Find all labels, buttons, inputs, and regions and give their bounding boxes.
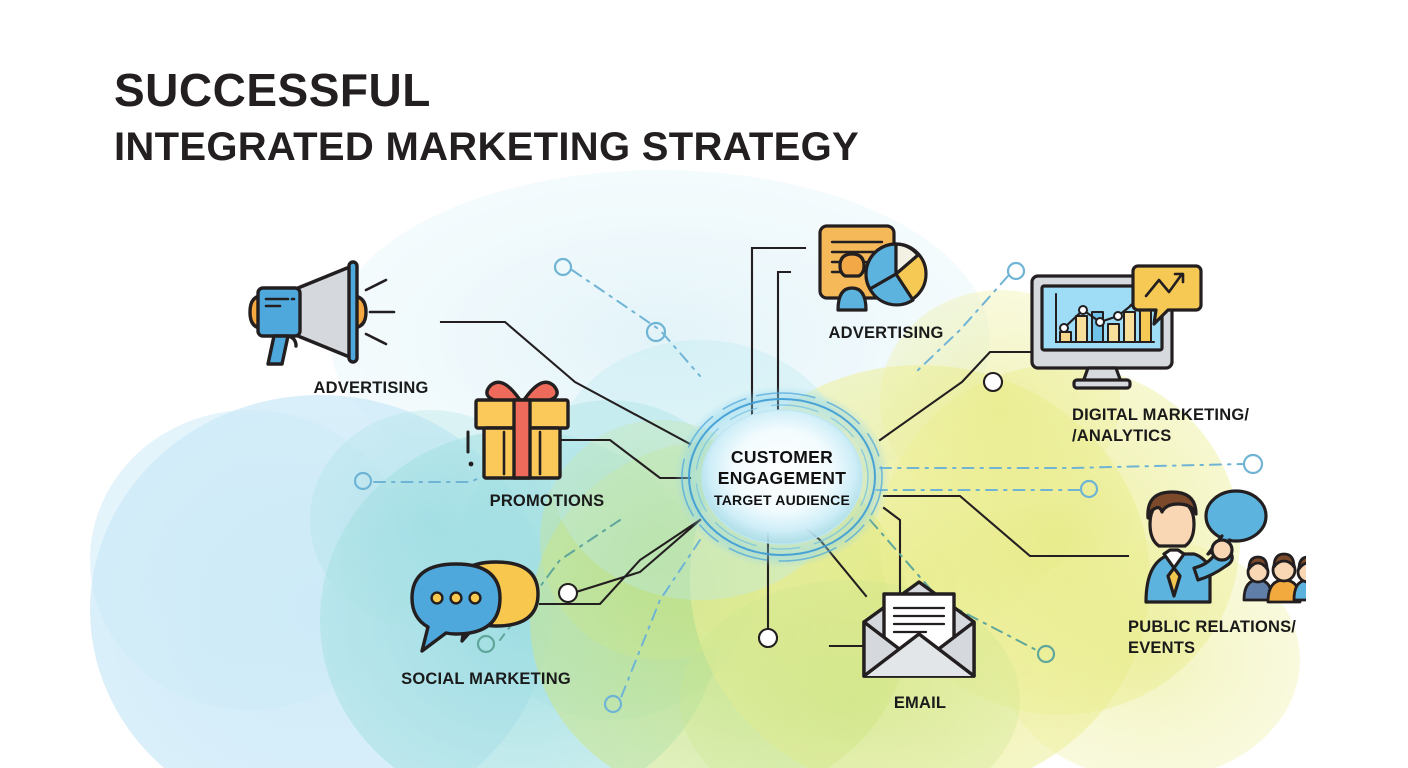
digital-label-line1: DIGITAL MARKETING/ [1072, 406, 1249, 424]
chat-bubbles-icon [404, 556, 616, 661]
node-label-email: EMAIL [820, 693, 1020, 714]
megaphone-icon [236, 252, 506, 372]
hub-title-line1: CUSTOMER [731, 447, 833, 468]
node-public-relations[interactable]: PUBLIC RELATIONS/ EVENTS [1116, 484, 1406, 658]
page-title: SUCCESSFUL INTEGRATED MARKETING STRATEGY [114, 66, 859, 168]
infographic-canvas: CUSTOMER ENGAGEMENT TARGET AUDIENCE [0, 0, 1408, 768]
hub-text-block: CUSTOMER ENGAGEMENT TARGET AUDIENCE [672, 385, 892, 570]
node-label-public-relations: PUBLIC RELATIONS/ EVENTS [1128, 617, 1406, 658]
node-promotions[interactable]: PROMOTIONS [436, 370, 658, 512]
pr-label-line1: PUBLIC RELATIONS/ [1128, 618, 1296, 636]
node-advertising-report[interactable]: ADVERTISING [776, 222, 996, 344]
speaker-audience-icon [1116, 484, 1406, 611]
node-social-marketing[interactable]: SOCIAL MARKETING [356, 556, 616, 690]
title-line-1: SUCCESSFUL [114, 66, 859, 114]
monitor-analytics-icon [1026, 262, 1316, 397]
node-label-digital-marketing: DIGITAL MARKETING/ /ANALYTICS [1072, 405, 1316, 446]
node-label-social-marketing: SOCIAL MARKETING [356, 669, 616, 690]
gift-box-icon [462, 370, 658, 487]
title-line-2: INTEGRATED MARKETING STRATEGY [114, 126, 859, 168]
node-label-advertising-report: ADVERTISING [776, 323, 996, 344]
node-email[interactable]: EMAIL [820, 578, 1020, 714]
central-hub: CUSTOMER ENGAGEMENT TARGET AUDIENCE [672, 385, 892, 570]
hub-title-line2: ENGAGEMENT [718, 468, 846, 489]
hub-subtitle: TARGET AUDIENCE [714, 492, 850, 508]
node-digital-marketing[interactable]: DIGITAL MARKETING/ /ANALYTICS [1016, 262, 1316, 446]
node-label-promotions: PROMOTIONS [436, 491, 658, 512]
envelope-icon [854, 578, 1020, 687]
ad-report-pie-icon [810, 222, 996, 319]
digital-label-line2: /ANALYTICS [1072, 427, 1172, 445]
pr-label-line2: EVENTS [1128, 639, 1195, 657]
